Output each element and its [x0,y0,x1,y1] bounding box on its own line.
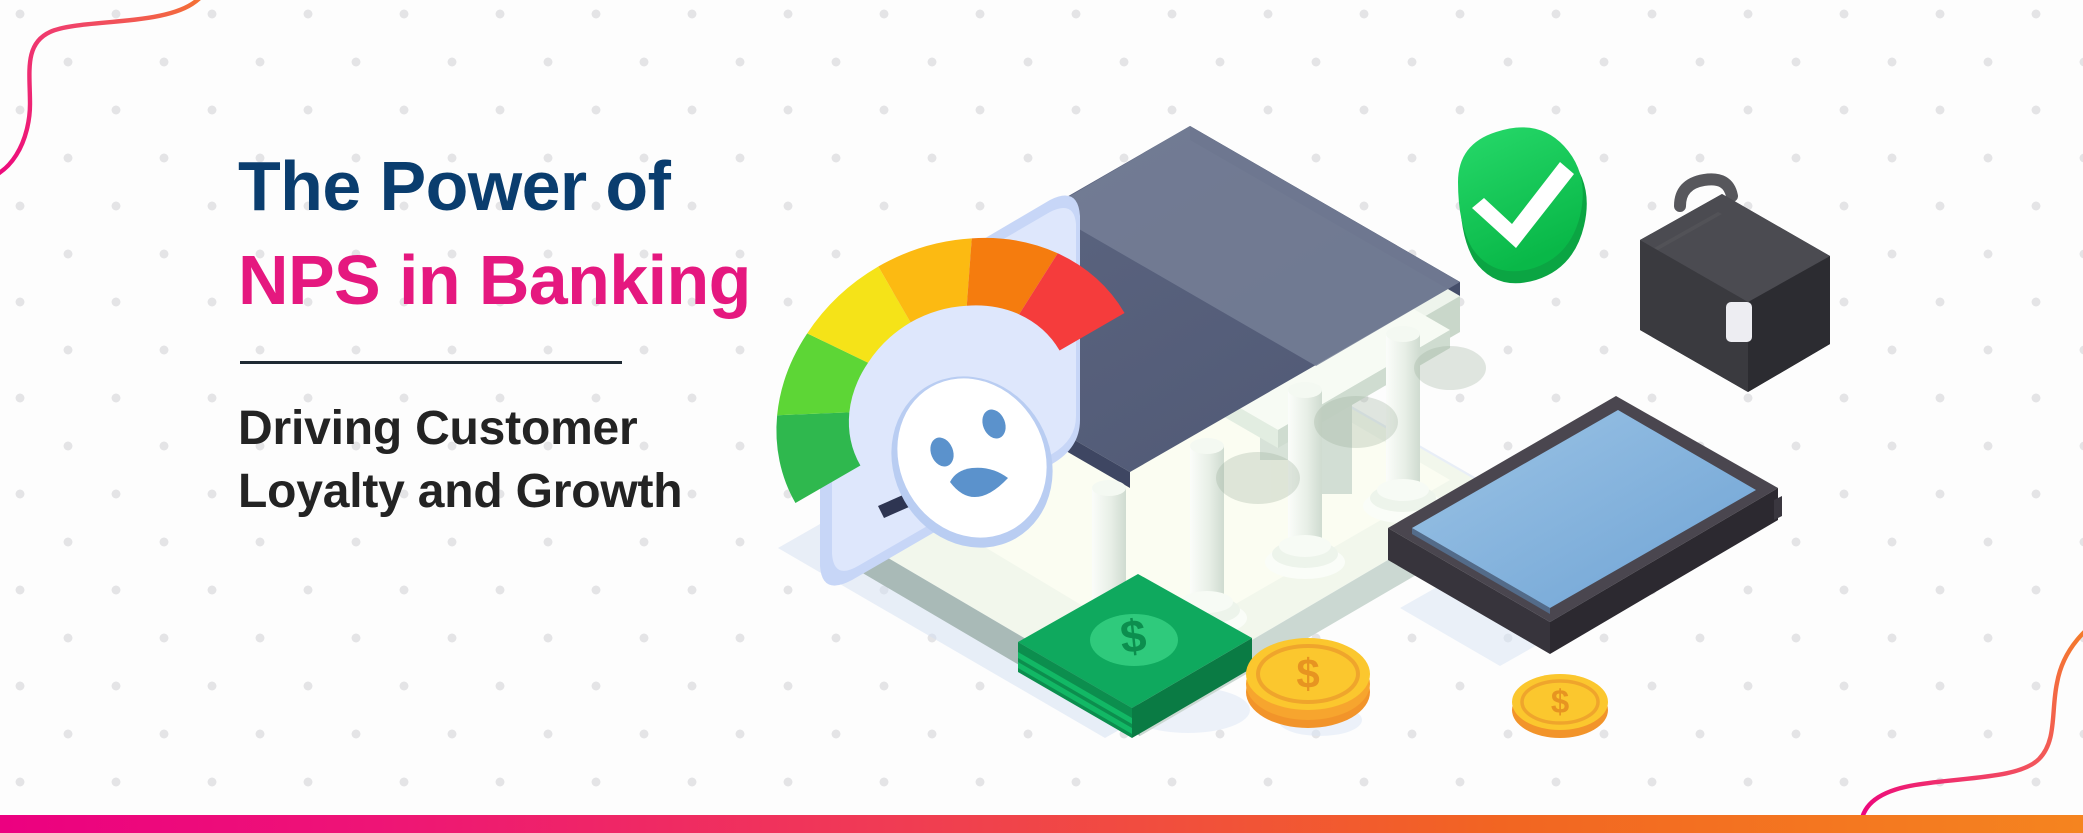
briefcase-clasp [1726,302,1752,342]
squiggle-top-left-icon [0,0,238,186]
dollar-symbol: $ [1551,683,1569,720]
dollar-symbol: $ [1296,650,1319,697]
verified-check-badge [1458,127,1587,283]
bottom-gradient-bar [0,815,2083,833]
coin-small: $ [1512,674,1608,738]
coin-large: $ [1246,638,1370,728]
banner-root: The Power of NPS in Banking Driving Cust… [0,0,2083,833]
isometric-banking-illustration: $ $ $ [760,48,2070,788]
title-divider [240,361,622,364]
phone-button [1774,496,1782,520]
briefcase [1640,179,1830,392]
dollar-symbol: $ [1118,609,1149,663]
